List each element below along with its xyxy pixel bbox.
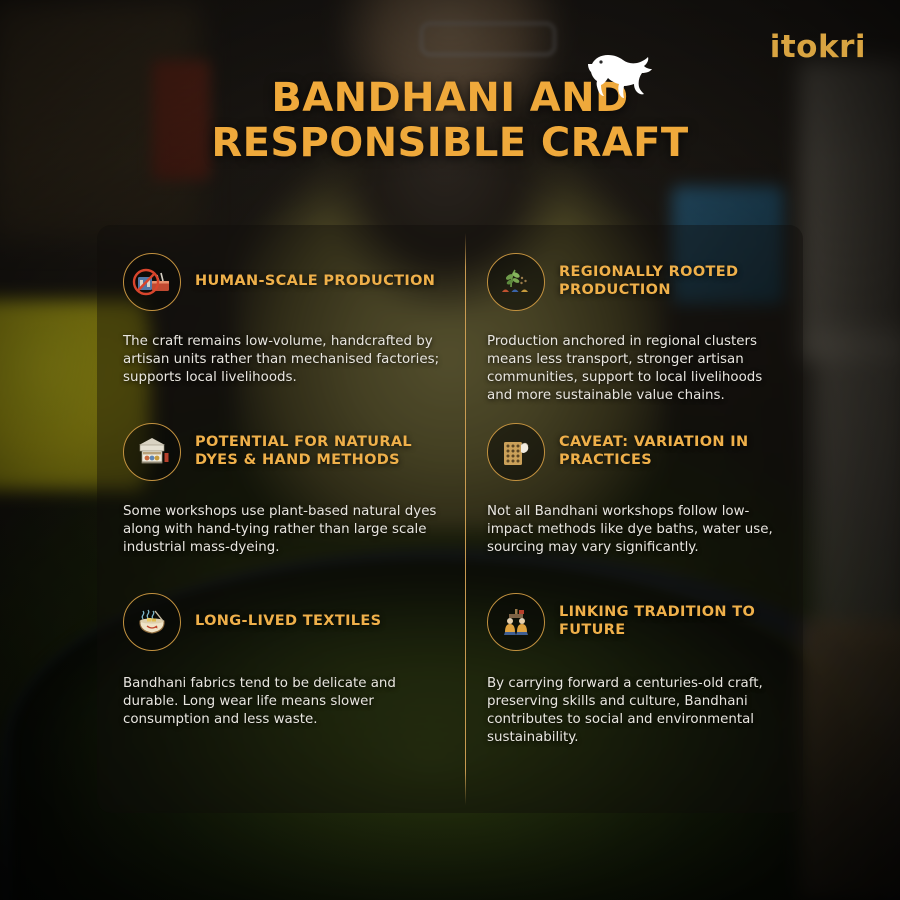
card-header: POTENTIAL FOR NATURAL DYES & HAND METHOD…	[123, 421, 441, 483]
patterned-fabric-swatch-icon	[487, 423, 545, 481]
card-title: POTENTIAL FOR NATURAL DYES & HAND METHOD…	[195, 434, 441, 469]
cards-grid: HUMAN-SCALE PRODUCTION The craft remains…	[97, 225, 803, 813]
title-line-1: BANDHANI AND	[271, 75, 628, 121]
card-header: LINKING TRADITION TO FUTURE	[487, 591, 785, 653]
infographic-screen: itokri BANDHANI AND RESPONSIBLE CRAFT	[0, 0, 900, 900]
card-long-lived-textiles: LONG-LIVED TEXTILES Bandhani fabrics ten…	[97, 565, 465, 813]
no-factory-machine-icon	[123, 253, 181, 311]
card-title: LINKING TRADITION TO FUTURE	[559, 604, 785, 639]
card-title: HUMAN-SCALE PRODUCTION	[195, 273, 435, 291]
page-title: BANDHANI AND RESPONSIBLE CRAFT	[0, 76, 900, 166]
card-regionally-rooted-production: REGIONALLY ROOTED PRODUCTION Production …	[465, 225, 803, 395]
card-body: Some workshops use plant-based natural d…	[123, 503, 441, 557]
card-caveat-variation-in-practices: CAVEAT: VARIATION IN PRACTICES Not all B…	[465, 395, 803, 565]
card-potential-for-natural-dyes: POTENTIAL FOR NATURAL DYES & HAND METHOD…	[97, 395, 465, 565]
card-header: REGIONALLY ROOTED PRODUCTION	[487, 251, 785, 313]
artisan-workshop-building-icon	[123, 423, 181, 481]
card-header: CAVEAT: VARIATION IN PRACTICES	[487, 421, 785, 483]
title-heading: BANDHANI AND RESPONSIBLE CRAFT	[110, 76, 790, 166]
card-body: By carrying forward a centuries-old craf…	[487, 675, 785, 747]
dye-pot-icon	[123, 593, 181, 651]
card-body: Bandhani fabrics tend to be delicate and…	[123, 675, 441, 729]
card-header: LONG-LIVED TEXTILES	[123, 591, 441, 653]
card-title: LONG-LIVED TEXTILES	[195, 613, 381, 631]
card-linking-tradition-to-future: LINKING TRADITION TO FUTURE By carrying …	[465, 565, 803, 813]
card-body: The craft remains low-volume, handcrafte…	[123, 333, 441, 387]
title-line-2: RESPONSIBLE CRAFT	[211, 120, 688, 166]
card-title: CAVEAT: VARIATION IN PRACTICES	[559, 434, 785, 469]
itokri-logo[interactable]: itokri	[770, 32, 866, 63]
content-panel: HUMAN-SCALE PRODUCTION The craft remains…	[97, 225, 803, 813]
card-title: REGIONALLY ROOTED PRODUCTION	[559, 264, 785, 299]
card-body: Not all Bandhani workshops follow low-im…	[487, 503, 785, 557]
plant-and-dye-mounds-icon	[487, 253, 545, 311]
card-header: HUMAN-SCALE PRODUCTION	[123, 251, 441, 313]
two-artisans-icon	[487, 593, 545, 651]
card-human-scale-production: HUMAN-SCALE PRODUCTION The craft remains…	[97, 225, 465, 395]
